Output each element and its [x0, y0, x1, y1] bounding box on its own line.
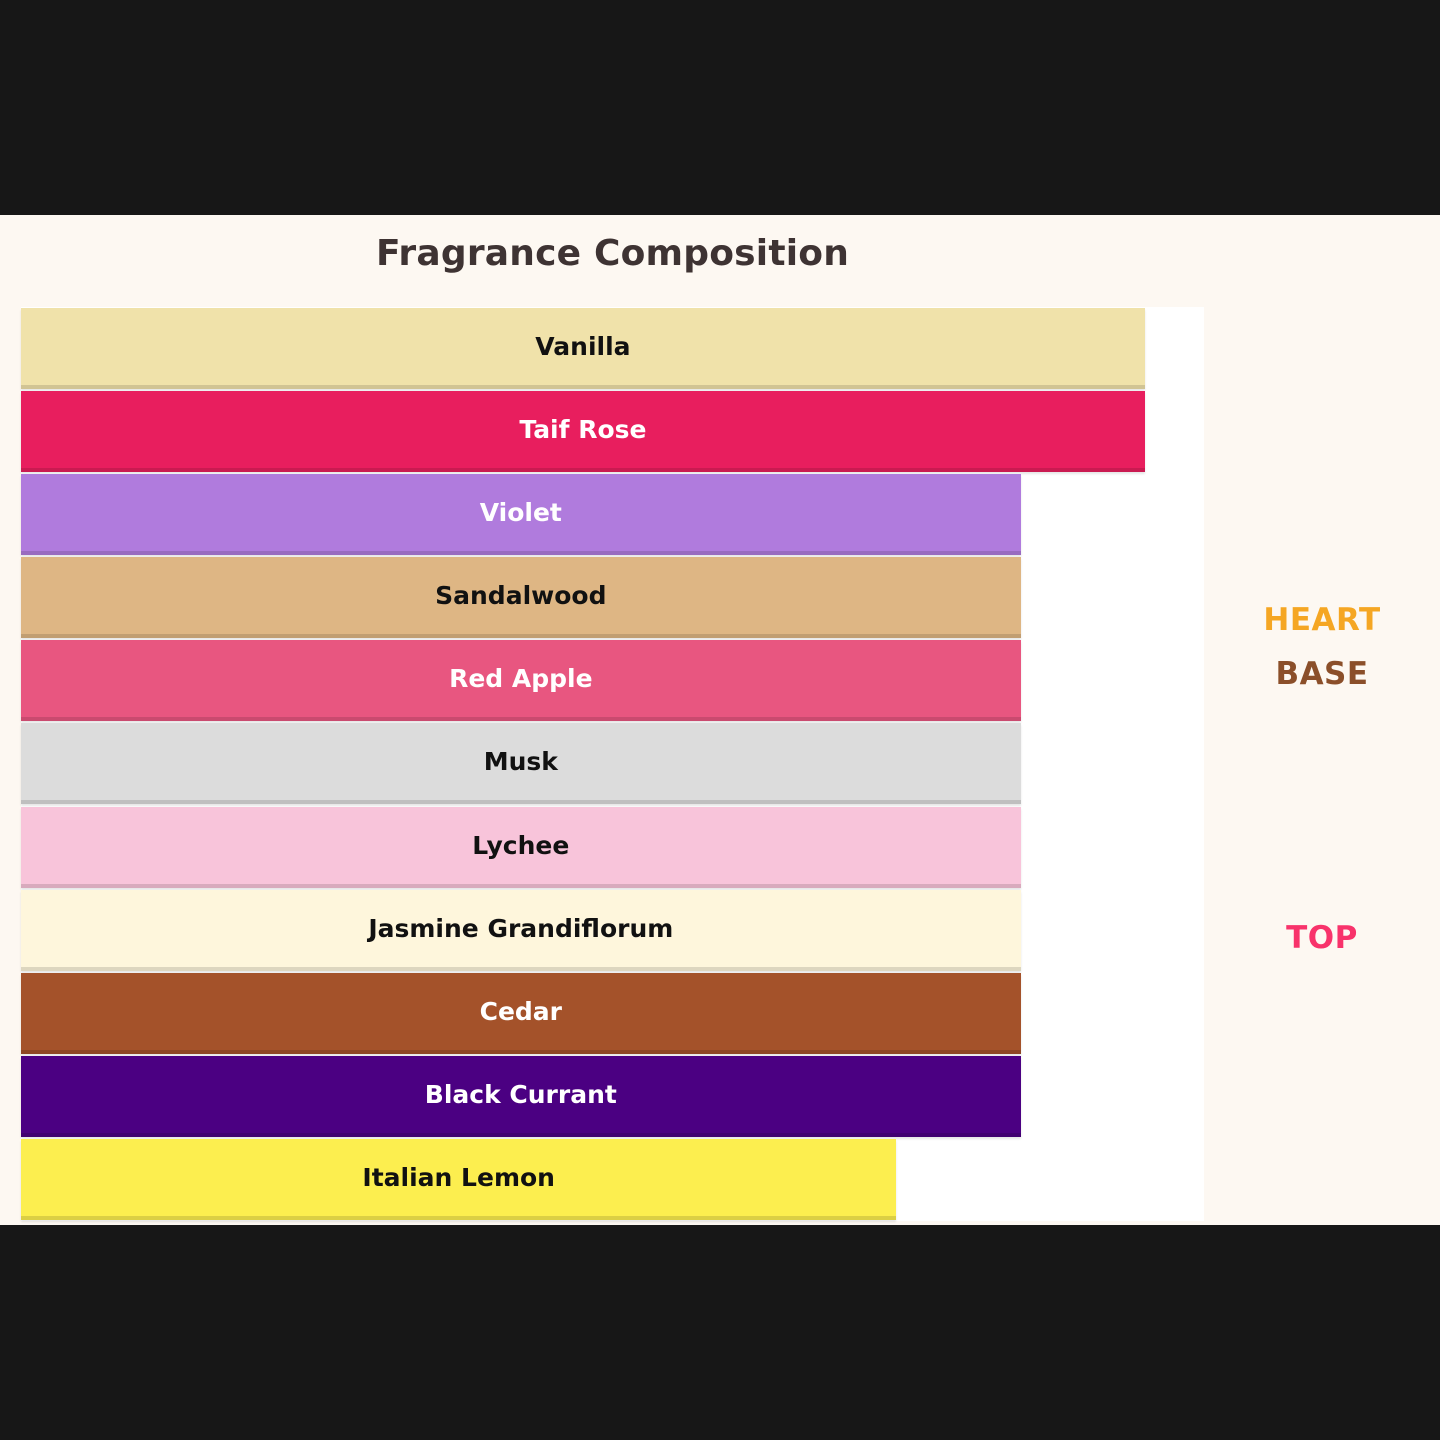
bar-musk[interactable]: Musk — [21, 723, 1021, 804]
bar-label: Musk — [484, 749, 558, 774]
bar-label: Black Currant — [425, 1082, 617, 1107]
bar-label: Jasmine Grandiflorum — [368, 916, 673, 941]
bar-label: Italian Lemon — [362, 1165, 555, 1190]
letterbox-top — [0, 0, 1440, 215]
group-label-heart: HEART — [1204, 602, 1440, 638]
bar-red-apple[interactable]: Red Apple — [21, 640, 1021, 721]
letterbox-bottom — [0, 1225, 1440, 1440]
bar-label: Vanilla — [535, 334, 630, 359]
bar-series: VanillaTaif RoseVioletSandalwoodRed Appl… — [21, 307, 1204, 1221]
bar-label: Lychee — [472, 833, 569, 858]
bar-label: Cedar — [480, 999, 562, 1024]
screenshot-root: Fragrance Composition VanillaTaif RoseVi… — [0, 0, 1440, 1440]
bar-black-currant[interactable]: Black Currant — [21, 1056, 1021, 1137]
chart-figure: Fragrance Composition VanillaTaif RoseVi… — [0, 215, 1440, 1225]
bar-taif-rose[interactable]: Taif Rose — [21, 391, 1145, 472]
bar-lychee[interactable]: Lychee — [21, 807, 1021, 888]
group-label-base: BASE — [1204, 656, 1440, 692]
group-label-top: TOP — [1204, 920, 1440, 956]
group-legend: HEARTBASETOP — [1204, 307, 1440, 1221]
bar-label: Red Apple — [449, 666, 592, 691]
plot-area: VanillaTaif RoseVioletSandalwoodRed Appl… — [21, 307, 1204, 1221]
bar-violet[interactable]: Violet — [21, 474, 1021, 555]
bar-italian-lemon[interactable]: Italian Lemon — [21, 1139, 896, 1220]
page-title: Fragrance Composition — [0, 233, 1225, 274]
bar-vanilla[interactable]: Vanilla — [21, 308, 1145, 389]
bar-sandalwood[interactable]: Sandalwood — [21, 557, 1021, 638]
bar-cedar[interactable]: Cedar — [21, 973, 1021, 1054]
bar-label: Sandalwood — [435, 583, 606, 608]
bar-label: Taif Rose — [519, 417, 646, 442]
bar-label: Violet — [480, 500, 562, 525]
bar-jasmine-grandiflorum[interactable]: Jasmine Grandiflorum — [21, 890, 1021, 971]
